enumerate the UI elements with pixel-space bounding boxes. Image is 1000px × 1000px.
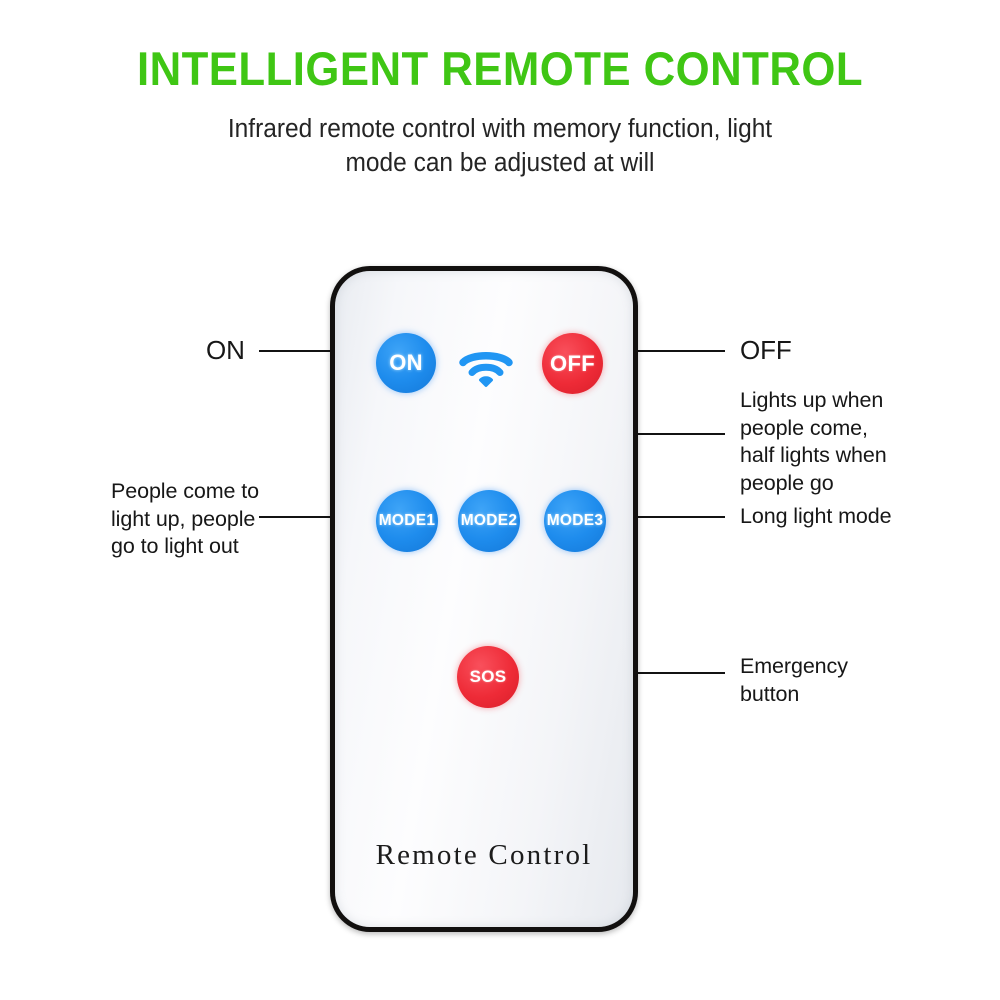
remote-control-device: ON OFF MODE1 MODE2 MODE3 SOS Remote Cont… bbox=[330, 266, 638, 932]
page-subtitle: Infrared remote control with memory func… bbox=[20, 112, 980, 180]
subtitle-line-2: mode can be adjusted at will bbox=[20, 146, 980, 180]
annotation-mode1-line-3: go to light out bbox=[111, 533, 261, 561]
remote-brand-label: Remote Control bbox=[335, 839, 633, 872]
mode2-button[interactable]: MODE2 bbox=[458, 490, 520, 552]
annotation-mode1-line-2: light up, people bbox=[111, 506, 261, 534]
wifi-icon bbox=[457, 344, 515, 388]
annotation-mode2-line-2: people come, bbox=[740, 415, 905, 443]
mode1-button[interactable]: MODE1 bbox=[376, 490, 438, 552]
mode3-button-label: MODE3 bbox=[547, 512, 604, 530]
annotation-on: ON bbox=[206, 334, 245, 367]
mode1-button-label: MODE1 bbox=[379, 512, 436, 530]
sos-button-label: SOS bbox=[470, 667, 507, 687]
on-button[interactable]: ON bbox=[376, 333, 436, 393]
mode2-button-label: MODE2 bbox=[461, 512, 518, 530]
annotation-mode3: Long light mode bbox=[740, 503, 940, 531]
annotation-off: OFF bbox=[740, 334, 792, 367]
off-button-label: OFF bbox=[550, 351, 595, 377]
on-button-label: ON bbox=[389, 350, 423, 376]
annotation-mode2-line-4: people go bbox=[740, 470, 905, 498]
mode3-button[interactable]: MODE3 bbox=[544, 490, 606, 552]
annotation-mode2: Lights up when people come, half lights … bbox=[740, 387, 905, 497]
header-block: INTELLIGENT REMOTE CONTROL Infrared remo… bbox=[0, 44, 1000, 180]
off-button[interactable]: OFF bbox=[542, 333, 603, 394]
annotation-mode1-line-1: People come to bbox=[111, 478, 261, 506]
subtitle-line-1: Infrared remote control with memory func… bbox=[20, 112, 980, 146]
annotation-sos-line-1: Emergency bbox=[740, 653, 900, 681]
remote-faceplate: ON OFF MODE1 MODE2 MODE3 SOS Remote Cont… bbox=[335, 271, 633, 927]
annotation-sos: Emergency button bbox=[740, 653, 900, 708]
annotation-sos-line-2: button bbox=[740, 681, 900, 709]
annotation-mode2-line-1: Lights up when bbox=[740, 387, 905, 415]
annotation-mode1: People come to light up, people go to li… bbox=[111, 478, 261, 561]
page-title: INTELLIGENT REMOTE CONTROL bbox=[35, 44, 965, 94]
annotation-mode2-line-3: half lights when bbox=[740, 442, 905, 470]
sos-button[interactable]: SOS bbox=[457, 646, 519, 708]
